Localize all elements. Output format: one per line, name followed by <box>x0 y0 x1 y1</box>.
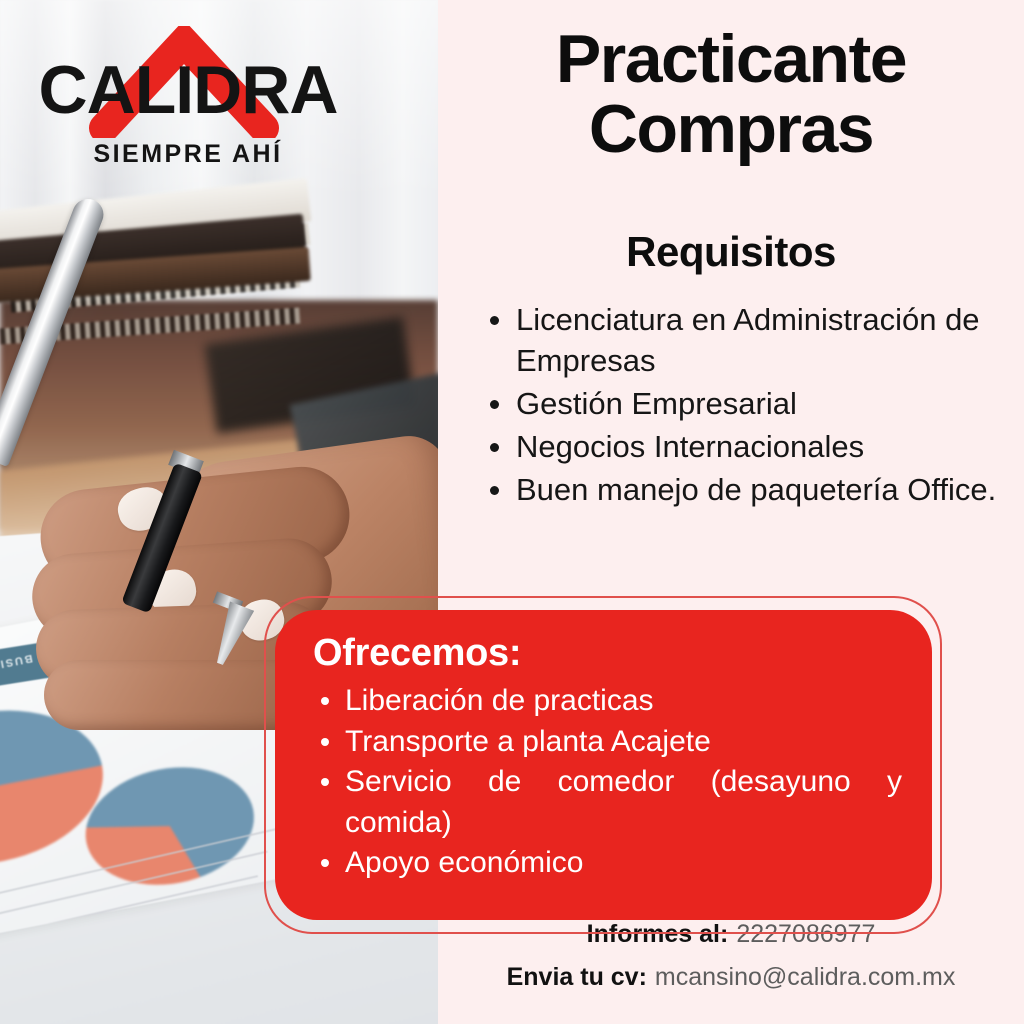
brand-tagline: SIEMPRE AHÍ <box>18 140 358 169</box>
contact-block: Informes al:2227086977 Envia tu cv:mcans… <box>438 920 1024 1006</box>
offer-list: Liberación de practicas Transporte a pla… <box>313 681 902 884</box>
list-item: Apoyo económico <box>313 843 902 884</box>
list-item: Servicio de comedor (desayuno y comida) <box>313 762 902 843</box>
contact-email-value[interactable]: mcansino@calidra.com.mx <box>655 963 955 991</box>
offer-heading: Ofrecemos: <box>313 632 902 675</box>
offer-box: Ofrecemos: Liberación de practicas Trans… <box>275 610 932 920</box>
contact-phone-row: Informes al:2227086977 <box>438 920 1024 949</box>
contact-phone-label: Informes al: <box>587 920 729 948</box>
requirements-heading: Requisitos <box>438 228 1024 276</box>
contact-email-label: Envia tu cv: <box>507 963 647 991</box>
contact-email-row: Envia tu cv:mcansino@calidra.com.mx <box>438 963 1024 992</box>
requirements-list: Licenciatura en Administración de Empres… <box>484 300 1012 513</box>
brand-wordmark: CALIDRA <box>18 56 358 124</box>
page-title: Practicante Compras <box>438 24 1024 164</box>
list-item: Gestión Empresarial <box>484 384 1012 425</box>
brand-logo: CALIDRA SIEMPRE AHÍ <box>18 22 358 182</box>
list-item: Transporte a planta Acajete <box>313 722 902 763</box>
job-title-line-2: Compras <box>438 94 1024 164</box>
list-item: Buen manejo de paquetería Office. <box>484 470 1012 511</box>
list-item: Negocios Internacionales <box>484 427 1012 468</box>
list-item: Licenciatura en Administración de Empres… <box>484 300 1012 382</box>
job-title-line-1: Practicante <box>438 24 1024 94</box>
contact-phone-value[interactable]: 2227086977 <box>736 920 875 948</box>
photo-finger-pinky <box>44 660 314 730</box>
job-posting-poster: MARKETING REPORT - FOR BUSINESS <box>0 0 1024 1024</box>
list-item: Liberación de practicas <box>313 681 902 722</box>
